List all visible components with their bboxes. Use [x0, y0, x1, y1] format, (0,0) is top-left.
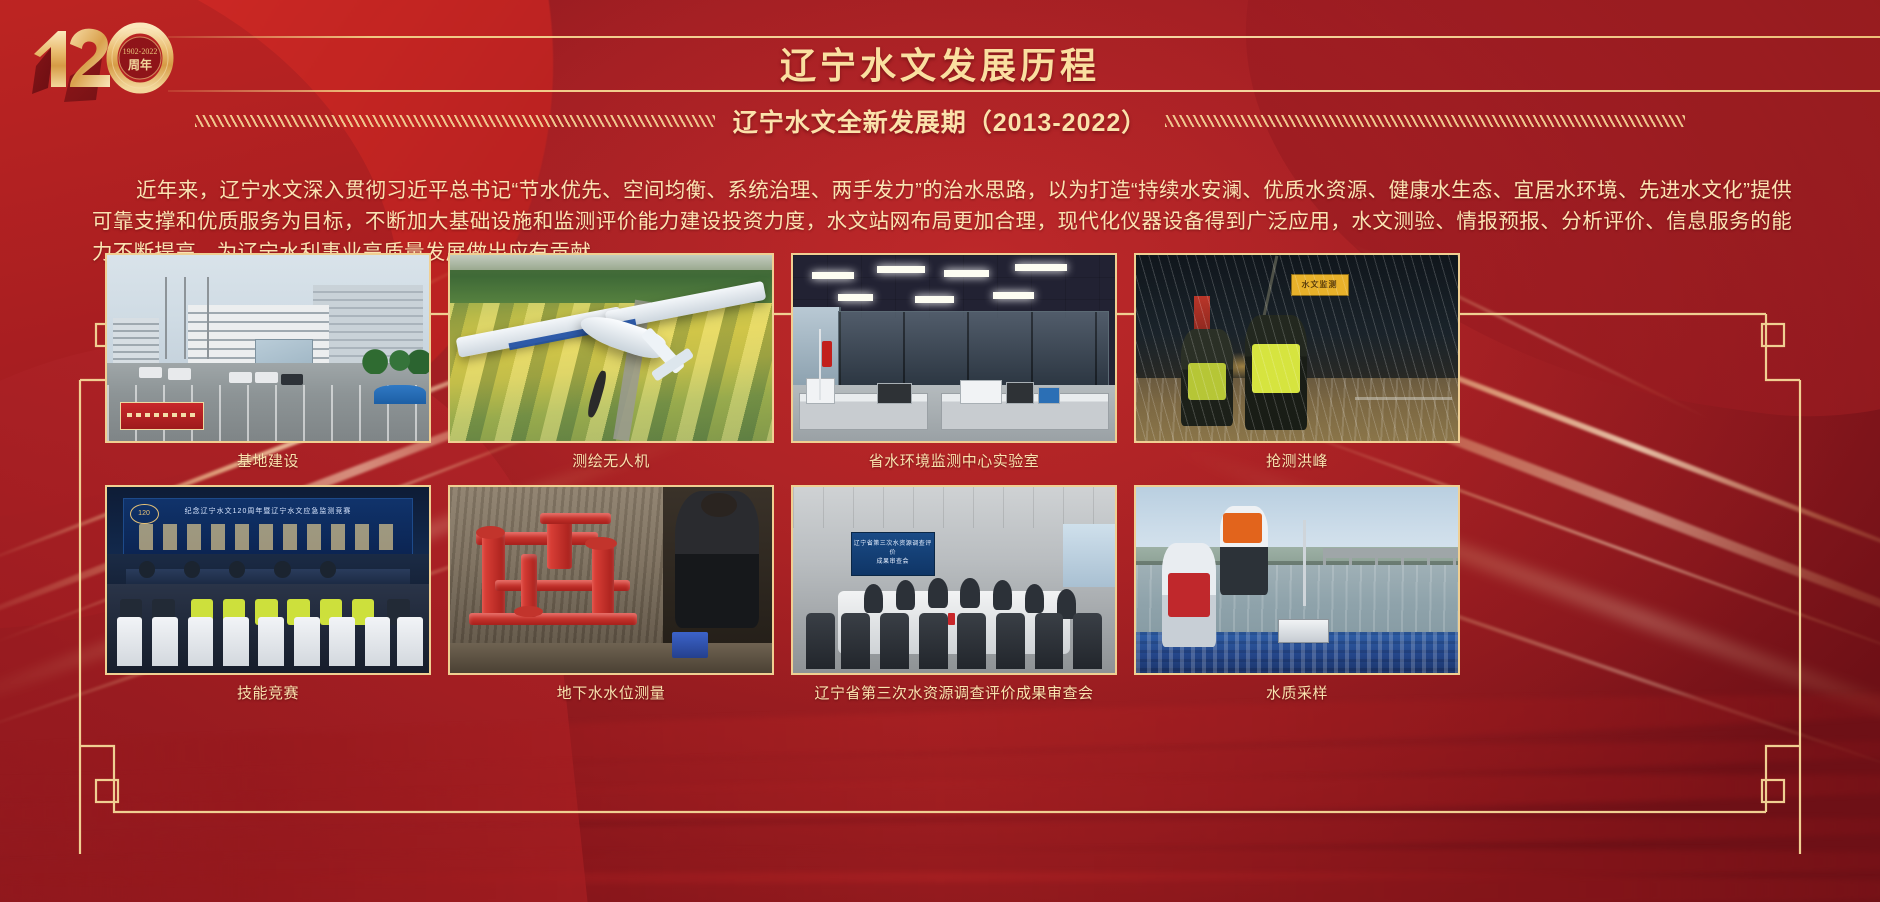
photo-caption: 基地建设	[105, 450, 431, 471]
page-title: 辽宁水文发展历程	[0, 36, 1880, 90]
photo-caption: 技能竞赛	[105, 682, 431, 703]
gallery-cell[interactable]: 地下水水位测量	[448, 485, 774, 703]
sampling-device	[1278, 619, 1330, 643]
photo-water-quality-sampling[interactable]	[1134, 485, 1460, 675]
gallery-cell[interactable]: 省水环境监测中心实验室	[791, 253, 1117, 471]
photo-caption: 地下水水位测量	[448, 682, 774, 703]
gallery-cell[interactable]: 水文监测 抢测洪峰	[1134, 253, 1460, 471]
photo-survey-uav[interactable]	[448, 253, 774, 443]
photo-caption: 省水环境监测中心实验室	[791, 450, 1117, 471]
meeting-screen-line1: 辽宁省第三次水资源调查评价	[851, 540, 935, 558]
gallery-row-2: 120 纪念辽宁水文120周年暨辽宁水文应急监测竞赛	[105, 485, 1465, 703]
gallery-cell[interactable]: 测绘无人机	[448, 253, 774, 471]
gallery-cell[interactable]: 基地建设	[105, 253, 431, 471]
hatch-decoration-left	[195, 115, 715, 127]
section-subtitle: 辽宁水文全新发展期（2013-2022）	[733, 103, 1148, 139]
gallery-cell[interactable]: 120 纪念辽宁水文120周年暨辽宁水文应急监测竞赛	[105, 485, 431, 703]
photo-caption: 测绘无人机	[448, 450, 774, 471]
wave-line	[0, 872, 1880, 902]
competition-banner-text: 纪念辽宁水文120周年暨辽宁水文应急监测竞赛	[133, 506, 404, 519]
hatch-decoration-right	[1165, 115, 1685, 127]
photo-provincial-water-lab[interactable]	[791, 253, 1117, 443]
meeting-screen-line2: 成果审查会	[877, 558, 910, 567]
gallery-cell[interactable]: 辽宁省第三次水资源调查评价 成果审查会	[791, 485, 1117, 703]
photo-caption: 抢测洪峰	[1134, 450, 1460, 471]
photo-skills-competition[interactable]: 120 纪念辽宁水文120周年暨辽宁水文应急监测竞赛	[105, 485, 431, 675]
photo-water-resources-review-meeting[interactable]: 辽宁省第三次水资源调查评价 成果审查会	[791, 485, 1117, 675]
fire-extinguisher	[822, 341, 832, 367]
photo-base-construction[interactable]	[105, 253, 431, 443]
photo-caption: 辽宁省第三次水资源调查评价成果审查会	[791, 682, 1117, 703]
photo-gallery: 基地建设 测绘无人机	[105, 253, 1465, 703]
site-signboard	[120, 402, 204, 430]
meeting-screen-text: 辽宁省第三次水资源调查评价 成果审查会	[851, 532, 935, 577]
header-rule-bottom	[168, 90, 1880, 92]
photo-groundwater-level-measurement[interactable]	[448, 485, 774, 675]
background-wave-band	[0, 682, 1880, 902]
gallery-cell[interactable]: 水质采样	[1134, 485, 1460, 703]
subtitle-row: 辽宁水文全新发展期（2013-2022）	[0, 100, 1880, 142]
photo-caption: 水质采样	[1134, 682, 1460, 703]
photo-flood-peak-measurement[interactable]: 水文监测	[1134, 253, 1460, 443]
gallery-row-1: 基地建设 测绘无人机	[105, 253, 1465, 471]
